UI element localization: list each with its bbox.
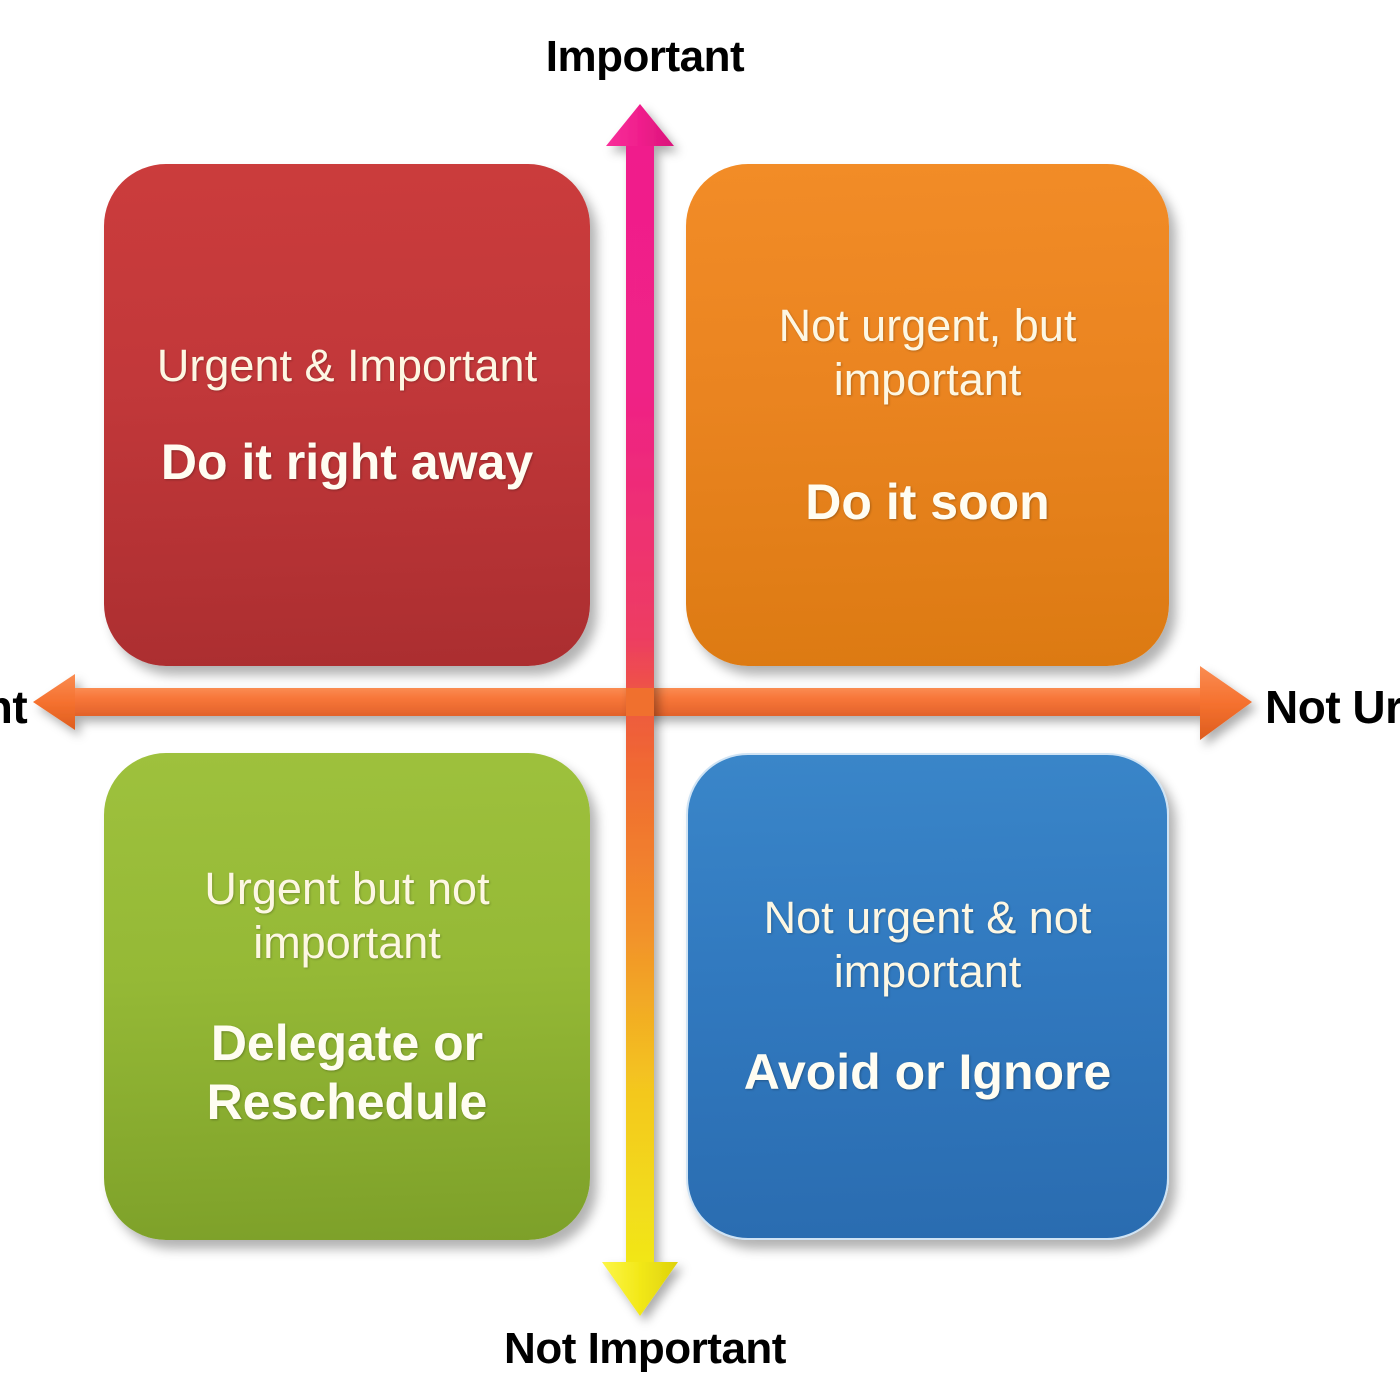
- quadrant-action-label: Do it soon: [805, 473, 1049, 532]
- quadrant-condition-label: Urgent but not important: [130, 862, 564, 970]
- quadrant-noturgent-important[interactable]: Not urgent, but important Do it soon: [686, 164, 1169, 666]
- quadrant-noturgent-notimportant[interactable]: Not urgent & not important Avoid or Igno…: [686, 753, 1169, 1240]
- axis-intersection: [626, 688, 654, 716]
- quadrant-condition-label: Not urgent, but important: [712, 299, 1143, 407]
- quadrant-action-label: Delegate or Reschedule: [130, 1014, 564, 1132]
- quadrant-condition-label: Not urgent & not important: [714, 891, 1141, 999]
- axis-label-not-important: Not Important: [0, 1324, 1290, 1374]
- vertical-axis-arrow: [602, 104, 678, 1316]
- quadrant-condition-label: Urgent & Important: [157, 339, 537, 393]
- axis-label-not-urgent: Not Urgent: [1265, 680, 1400, 734]
- horizontal-axis-arrow: [33, 666, 1252, 740]
- eisenhower-matrix: Important Not Important Urgent Not Urgen…: [0, 0, 1400, 1400]
- quadrant-urgent-notimportant[interactable]: Urgent but not important Delegate or Res…: [104, 753, 590, 1240]
- axis-label-important: Important: [0, 32, 1290, 82]
- quadrant-action-label: Do it right away: [161, 433, 533, 492]
- axis-label-urgent: Urgent: [0, 680, 27, 734]
- quadrant-action-label: Avoid or Ignore: [744, 1043, 1112, 1102]
- quadrant-urgent-important[interactable]: Urgent & Important Do it right away: [104, 164, 590, 666]
